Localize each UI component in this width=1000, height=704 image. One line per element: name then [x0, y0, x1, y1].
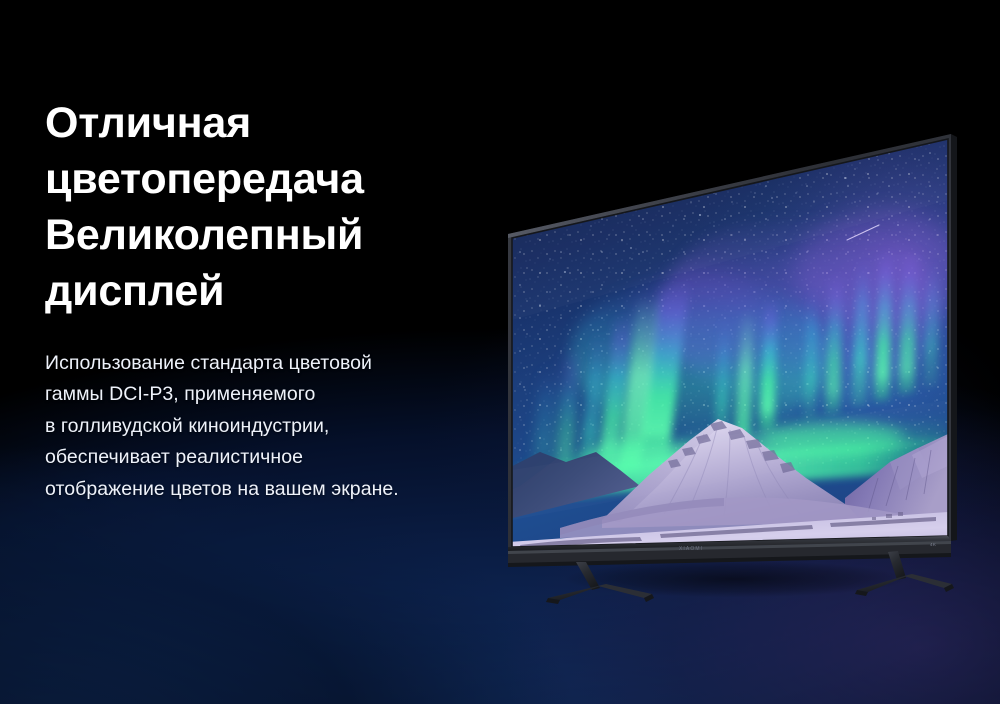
- promo-banner: Отличная цветопередача Великолепный дисп…: [0, 0, 1000, 704]
- description-text: Использование стандарта цветовой гаммы D…: [45, 348, 515, 506]
- page-title: Отличная цветопередача Великолепный дисп…: [45, 96, 515, 320]
- copy-block: Отличная цветопередача Великолепный дисп…: [45, 96, 515, 505]
